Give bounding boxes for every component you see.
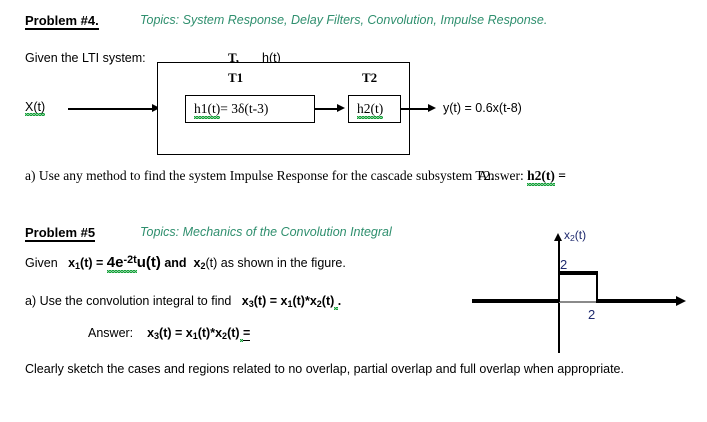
block-2-box: h2(t): [348, 95, 401, 123]
plot-x-axis-arrowhead: [676, 296, 686, 306]
block-1-label: h1(t)= 3δ(t-3): [194, 101, 268, 117]
plot-amplitude-label: 2: [560, 257, 567, 272]
x1-symbol: x1(t) =: [68, 256, 103, 270]
output-arrow-head: [428, 104, 436, 112]
plot-signal-left-tail: [472, 299, 559, 303]
block-1-box: h1(t)= 3δ(t-3): [185, 95, 315, 123]
problem-5-answer-label: Answer:: [88, 326, 133, 340]
problem-5-part-a: a) Use the convolution integral to find …: [25, 294, 341, 309]
x2-signal-plot: x2(t) 2 2: [460, 225, 707, 355]
x2-symbol: x2: [194, 256, 206, 270]
x1-expression: 4e-2tu(t): [107, 254, 161, 271]
plot-y-axis-label: x2(t): [564, 228, 586, 243]
block-1-tag: T1: [228, 70, 243, 86]
output-equation: y(t) = 0.6x(t-8): [443, 101, 522, 115]
given-word: Given: [25, 256, 58, 270]
closing-instruction: Clearly sketch the cases and regions rel…: [25, 362, 635, 377]
problem-4-topics: Topics: System Response, Delay Filters, …: [140, 13, 547, 27]
input-signal-text: X(t): [25, 100, 45, 114]
plot-y-axis-arrowhead: [554, 233, 562, 241]
plot-signal-right-tail: [596, 299, 681, 303]
conjunction-and: and: [164, 256, 186, 270]
plot-signal-rising-edge: [558, 273, 560, 302]
block-2-label: h2(t): [357, 101, 383, 117]
problem-4-heading: Problem #4.: [25, 13, 99, 30]
worksheet-page: Problem #4. Topics: System Response, Del…: [0, 0, 707, 422]
problem-4-part-a: a) Use any method to find the system Imp…: [25, 168, 494, 184]
problem-5-heading: Problem #5: [25, 225, 95, 242]
problem-5-topics: Topics: Mechanics of the Convolution Int…: [140, 225, 392, 239]
block-connector-arrow: [337, 104, 345, 112]
problem-5-answer-row: Answer: x3(t) = x1(t)*x2(t) =: [88, 326, 250, 341]
problem-5-given-line: Given x1(t) = 4e-2tu(t) and x2(t) as sho…: [25, 254, 346, 271]
plot-x-axis-segment: [558, 301, 598, 303]
block-2-tag: T2: [362, 70, 377, 86]
problem-5-answer-expression: x3(t) = x1(t)*x2(t) =: [147, 326, 250, 340]
x2-rest: (t) as shown in the figure.: [205, 256, 345, 270]
plot-time-label: 2: [588, 307, 595, 322]
problem-4-answer-label: Answer: h2(t) =: [478, 168, 566, 184]
part-a-lead: a) Use the convolution integral to find: [25, 294, 231, 308]
given-lti-label: Given the LTI system:: [25, 51, 146, 65]
input-arrow-line: [68, 108, 156, 110]
problem-4-answer-value: h2(t) =: [527, 168, 566, 183]
part-a-expression: x3(t) = x1(t)*x2(t) .: [242, 294, 341, 308]
input-signal-label: X(t): [25, 100, 45, 114]
